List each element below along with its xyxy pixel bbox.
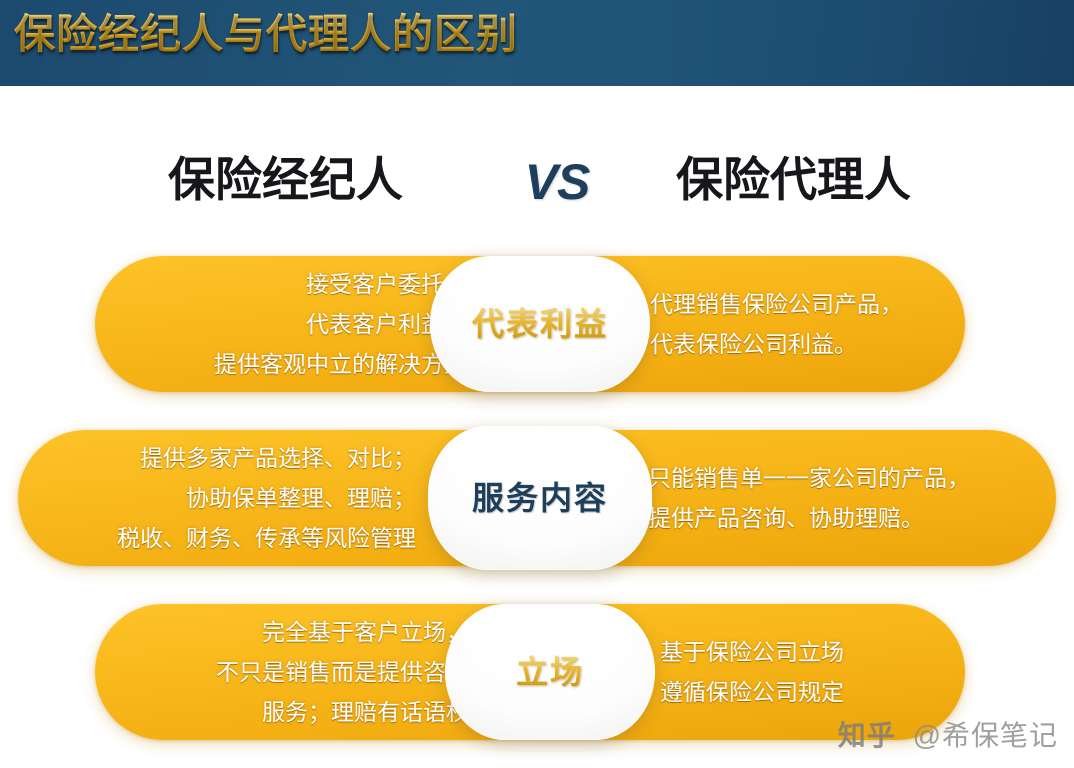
comparison-row: 完全基于客户立场， 不只是销售而是提供咨询 服务；理赔有话语权 立场 基于保险公… xyxy=(95,604,965,740)
text-line: 提供多家产品选择、对比； xyxy=(68,441,416,475)
row-badge-label: 代表利益 xyxy=(472,304,608,344)
row-left-text: 完全基于客户立场， 不只是销售而是提供咨询 服务；理赔有话语权 xyxy=(157,604,469,740)
text-line: 代表保险公司利益。 xyxy=(650,327,960,361)
text-line: 提供客观中立的解决方案 xyxy=(167,347,467,381)
row-badge-label: 服务内容 xyxy=(472,478,608,518)
watermark-platform: 知乎 xyxy=(838,720,896,751)
text-line: 不只是销售而是提供咨询 xyxy=(157,655,469,689)
right-party-title: 保险代理人 xyxy=(676,140,911,220)
row-badge: 立场 xyxy=(445,604,655,740)
text-line: 提供产品咨询、协助理赔。 xyxy=(648,501,1008,535)
text-line: 只能销售单一一家公司的产品， xyxy=(648,461,1008,495)
row-badge: 服务内容 xyxy=(428,426,652,570)
comparison-row: 接受客户委托， 代表客户利益， 提供客观中立的解决方案 代表利益 代理销售保险公… xyxy=(95,256,965,392)
row-badge-label: 立场 xyxy=(516,652,584,692)
text-line: 服务；理赔有话语权 xyxy=(157,695,469,729)
row-right-text: 代理销售保险公司产品， 代表保险公司利益。 xyxy=(650,256,960,392)
page-title: 保险经纪人与代理人的区别 xyxy=(14,9,518,59)
text-line: 遵循保险公司规定 xyxy=(660,675,960,709)
text-line: 税收、财务、传承等风险管理 xyxy=(68,521,416,555)
text-line: 代表客户利益， xyxy=(167,307,467,341)
row-badge: 代表利益 xyxy=(430,256,650,392)
row-left-text: 提供多家产品选择、对比； 协助保单整理、理赔； 税收、财务、传承等风险管理 xyxy=(68,430,416,566)
text-line: 代理销售保险公司产品， xyxy=(650,287,960,321)
left-party-title: 保险经纪人 xyxy=(168,140,403,220)
text-line: 接受客户委托， xyxy=(167,267,467,301)
infographic-page: 保险经纪人与代理人的区别 保险经纪人 VS 保险代理人 接受客户委托， 代表客户… xyxy=(0,0,1074,768)
watermark: 知乎 @希保笔记 xyxy=(838,718,1058,754)
row-right-text: 只能销售单一一家公司的产品， 提供产品咨询、协助理赔。 xyxy=(648,430,1008,566)
comparison-row: 提供多家产品选择、对比； 协助保单整理、理赔； 税收、财务、传承等风险管理 服务… xyxy=(18,430,1056,566)
header-banner: 保险经纪人与代理人的区别 xyxy=(0,0,1074,86)
text-line: 协助保单整理、理赔； xyxy=(68,481,416,515)
text-line: 基于保险公司立场 xyxy=(660,635,960,669)
watermark-handle: @希保笔记 xyxy=(913,720,1058,751)
vs-label: VS xyxy=(505,146,609,218)
versus-heading: 保险经纪人 VS 保险代理人 xyxy=(0,140,1074,226)
text-line: 完全基于客户立场， xyxy=(157,615,469,649)
row-left-text: 接受客户委托， 代表客户利益， 提供客观中立的解决方案 xyxy=(167,256,467,392)
